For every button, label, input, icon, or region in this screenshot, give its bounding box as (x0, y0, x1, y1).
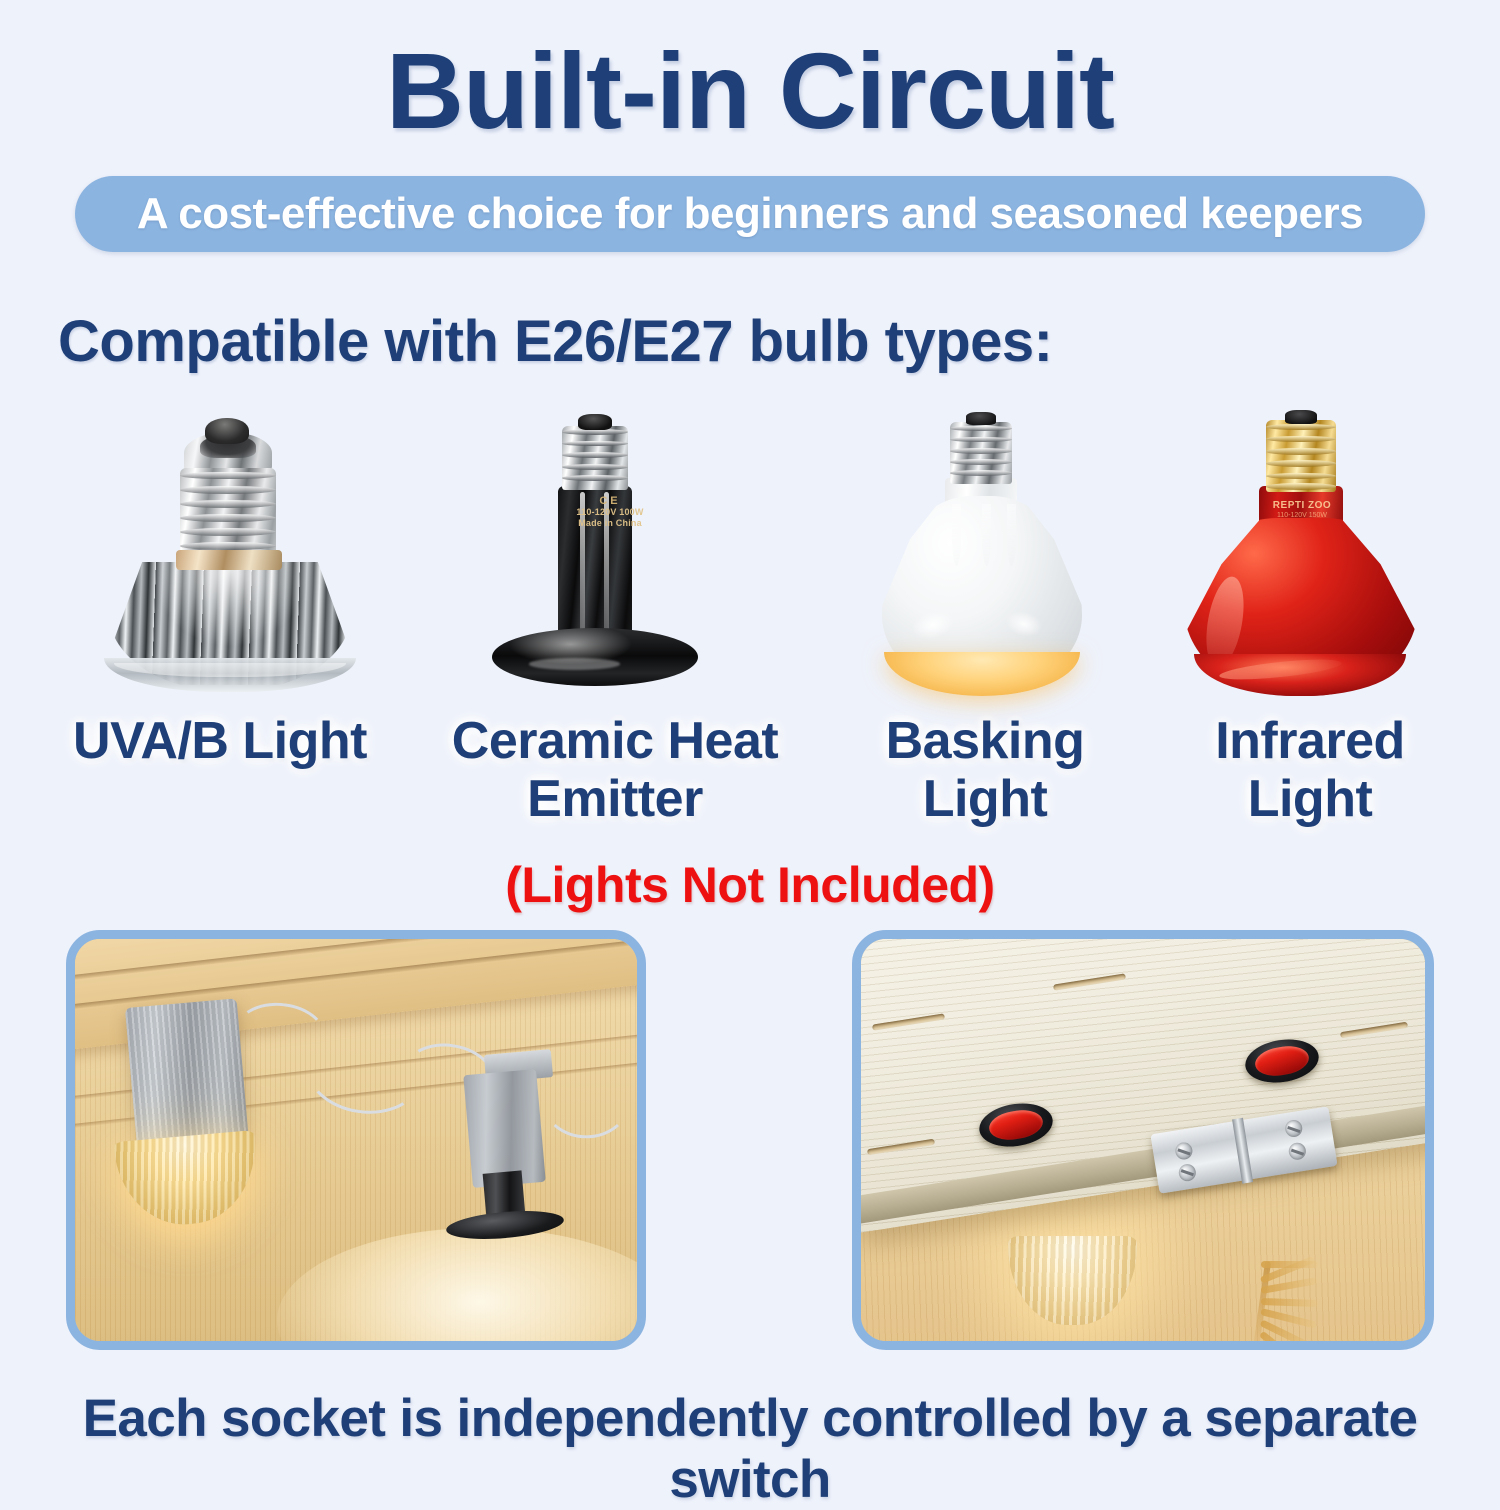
ceramic-origin-text: Made in China (440, 518, 780, 529)
ceramic-body-markings: CE 110-120V 100W Made in China (440, 496, 780, 530)
bulb-item-basking-light (820, 400, 1160, 700)
ceramic-heat-emitter-icon: CE 110-120V 100W Made in China (440, 400, 780, 700)
frosted-reflector-bulb-icon (820, 400, 1160, 700)
ce-mark-text: CE (440, 496, 780, 507)
red-infrared-bulb-icon: REPTI ZOO 110-120V 150W (1140, 400, 1480, 700)
bulb-collar (176, 550, 282, 570)
bulb-type-row: CE 110-120V 100W Made in China (0, 400, 1500, 700)
page-title: Built-in Circuit (0, 34, 1500, 147)
filament-support-icon (938, 504, 1026, 566)
lamp-socket (125, 999, 250, 1153)
photo-sockets-under-enclosure-lid (66, 930, 646, 1350)
e27-brass-screw-base-icon (1266, 420, 1336, 492)
infrared-spec-text: 110-120V 150W (1258, 512, 1346, 520)
compatibility-heading: Compatible with E26/E27 bulb types: (58, 308, 1052, 375)
chrome-reflector-bulb-icon (80, 400, 420, 700)
bulb-contact-tip-icon (578, 414, 612, 430)
subtitle-text: A cost-effective choice for beginners an… (137, 189, 1363, 239)
bulb-item-infrared-light: REPTI ZOO 110-120V 150W (1140, 400, 1480, 700)
wire-icon (541, 1060, 631, 1138)
bulb-label-ceramic-heat-emitter: Ceramic Heat Emitter (420, 712, 810, 828)
bulb-label-infrared-light: Infrared Light (1150, 712, 1470, 828)
bulb-item-ceramic-heat-emitter: CE 110-120V 100W Made in China (440, 400, 780, 700)
e27-screw-base-icon (950, 422, 1012, 484)
lights-not-included-disclaimer: (Lights Not Included) (0, 856, 1500, 914)
bulb-contact-tip-icon (205, 418, 249, 444)
e27-screw-base-icon (562, 426, 628, 490)
warm-light-glow (884, 652, 1080, 696)
red-lens-face (1194, 654, 1406, 696)
e27-screw-base-icon (180, 468, 276, 556)
bulb-contact-tip-icon (1285, 410, 1317, 424)
ceramic-flared-base (492, 628, 698, 686)
photo-enclosure-lid-with-switches (852, 930, 1434, 1350)
fern-decoration-icon (1199, 1261, 1323, 1349)
footer-caption: Each socket is independently controlled … (0, 1388, 1500, 1510)
lamp-socket (464, 1069, 547, 1187)
infrared-bulb-markings: REPTI ZOO 110-120V 150W (1258, 500, 1346, 520)
bulb-label-row: UVA/B Light Ceramic Heat Emitter Basking… (0, 712, 1500, 842)
infrared-brand-text: REPTI ZOO (1258, 500, 1346, 512)
bulb-item-uva-b-light (80, 400, 420, 700)
bulb-label-basking-light: Basking Light (830, 712, 1140, 828)
bulb-lens-rim (104, 658, 356, 692)
ceramic-voltage-watt-text: 110-120V 100W (440, 507, 780, 518)
bulb-label-uva-b-light: UVA/B Light (30, 712, 410, 770)
bulb-contact-tip-icon (966, 412, 996, 425)
subtitle-banner: A cost-effective choice for beginners an… (75, 176, 1425, 252)
